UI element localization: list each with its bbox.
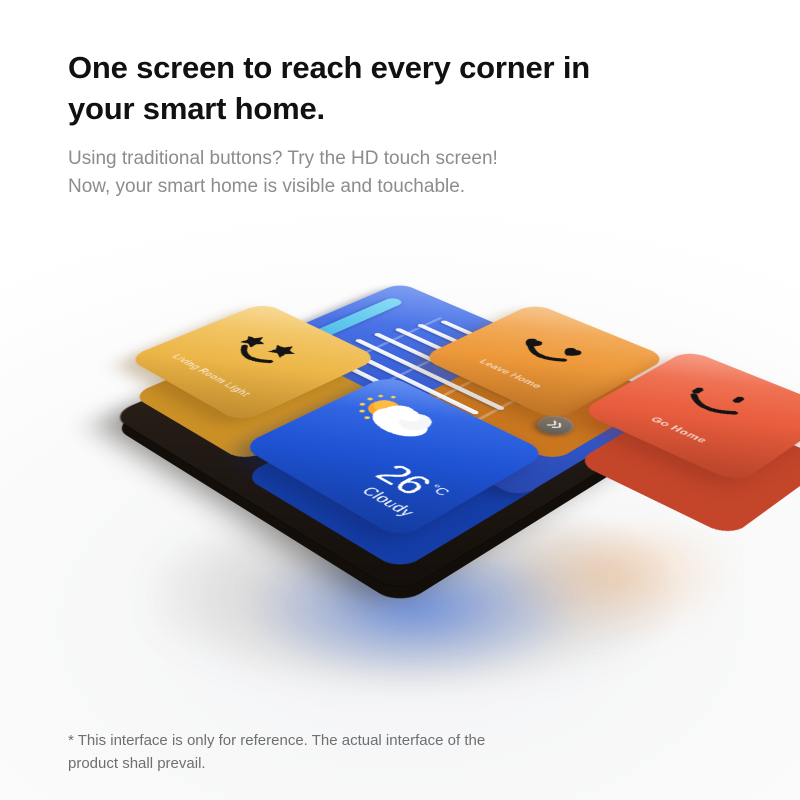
next-icon <box>545 420 566 431</box>
disclaimer-note: * This interface is only for reference. … <box>68 730 668 775</box>
subtitle-line-1: Using traditional buttons? Try the HD to… <box>68 145 688 173</box>
page-subtitle: Using traditional buttons? Try the HD to… <box>68 145 688 200</box>
subtitle-line-2: Now, your smart home is visible and touc… <box>68 173 688 201</box>
disclaimer-line-1: * This interface is only for reference. … <box>68 730 668 753</box>
headline-line-2: your smart home. <box>68 89 678 130</box>
page-title: One screen to reach every corner in your… <box>68 48 678 130</box>
product-illustration: Living Room Light <box>0 200 800 700</box>
disclaimer-line-2: product shall prevail. <box>68 753 668 776</box>
device-warm-glow <box>500 530 730 640</box>
headline-line-1: One screen to reach every corner in <box>68 48 678 89</box>
